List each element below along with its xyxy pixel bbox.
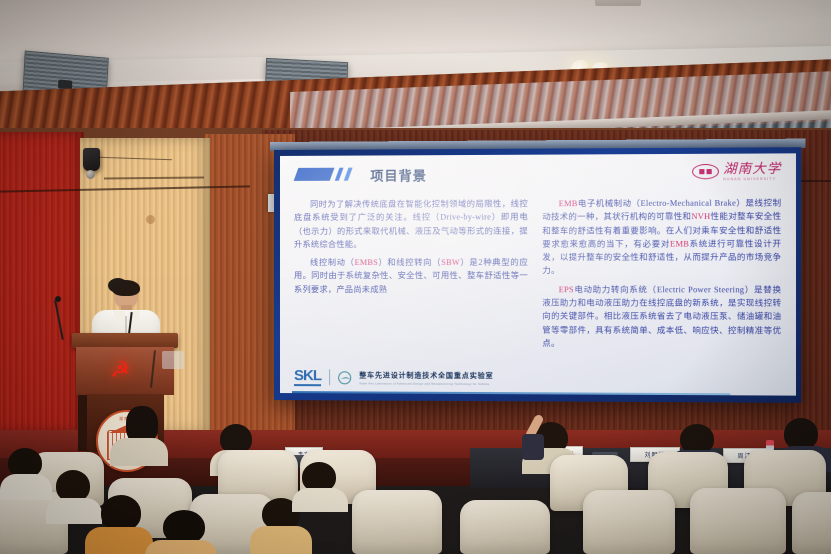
person-torso — [145, 540, 217, 554]
auditorium-chair[interactable] — [460, 500, 550, 554]
projection-screen-frame: 项目背景 湖南大学 HUNAN UNIVERSITY 同时为了解决传统底盘在智能… — [274, 147, 801, 403]
lab-name-block: 整车先进设计制造技术全国重点实验室 State Key Laboratory o… — [359, 370, 493, 386]
slide-footer: SKL 整车先进设计制造技术全国重点实验室 State Key Laborato… — [280, 365, 796, 392]
lab-name-cn: 整车先进设计制造技术全国重点实验室 — [359, 370, 493, 381]
university-logo: 湖南大学 HUNAN UNIVERSITY — [692, 162, 781, 182]
audience-member — [110, 406, 168, 464]
party-emblem-icon: ☭ — [102, 357, 138, 383]
wall-speaker-icon — [83, 148, 100, 171]
person-sleeve — [522, 434, 544, 460]
podium-screen — [162, 351, 184, 369]
audience-member — [145, 510, 217, 554]
university-name-en: HUNAN UNIVERSITY — [723, 177, 776, 181]
person-torso — [110, 438, 168, 466]
hunan-university-seal-icon — [692, 164, 719, 179]
person-torso — [85, 527, 153, 554]
title-bar-block-icon — [294, 168, 335, 181]
slide-paragraph: 线控制动（EMBS）和线控转向（SBW）是2种典型的应用。同时由于系统复杂性、安… — [294, 256, 528, 296]
university-name-cn: 湖南大学 — [723, 162, 781, 176]
person-head — [163, 510, 205, 544]
footer-divider — [329, 369, 330, 385]
podium-leg — [78, 395, 87, 451]
auditorium-chair[interactable] — [792, 492, 831, 554]
slide-paragraph: 同时为了解决传统底盘在智能化控制领域的局限性，线控底盘系统受到了广泛的关注。线控… — [294, 197, 528, 251]
skl-logo: SKL — [294, 368, 321, 386]
wall-mark — [146, 215, 155, 224]
slide-body: 同时为了解决传统底盘在智能化控制领域的局限性，线控底盘系统受到了广泛的关注。线控… — [280, 196, 796, 370]
lab-mark-icon — [338, 371, 351, 384]
audience-member — [0, 448, 52, 498]
title-accent-bars — [296, 168, 350, 181]
slide-left-column: 同时为了解决传统底盘在智能化控制领域的局限性，线控底盘系统受到了广泛的关注。线控… — [294, 197, 528, 369]
university-logo-text: 湖南大学 HUNAN UNIVERSITY — [723, 162, 781, 182]
person-torso — [292, 488, 348, 512]
audience-member — [85, 495, 153, 554]
title-slash-icon — [344, 168, 353, 181]
auditorium-chair[interactable] — [352, 490, 442, 554]
person-head — [101, 495, 141, 531]
audience-member — [292, 462, 348, 510]
auditorium-chair[interactable] — [583, 490, 675, 554]
person-torso — [0, 474, 52, 500]
lab-name-en: State Key Laboratory of Advanced Design … — [359, 381, 493, 386]
title-slash-icon — [335, 168, 344, 181]
presentation-slide[interactable]: 项目背景 湖南大学 HUNAN UNIVERSITY 同时为了解决传统底盘在智能… — [280, 153, 796, 395]
person-torso — [250, 526, 312, 554]
auditorium-chair[interactable] — [690, 488, 786, 554]
podium-top-surface — [72, 333, 178, 348]
footer-underline — [292, 391, 730, 395]
ceiling-fixture — [595, 0, 641, 6]
presenter-hair — [112, 280, 140, 296]
slide-paragraph: EPS电动助力转向系统（Electric Power Steering）是替换液… — [542, 283, 781, 351]
slide-paragraph: EMB电子机械制动（Electro-Mechanical Brake）是线控制动… — [542, 196, 781, 277]
conference-room-scene: 项目背景 湖南大学 HUNAN UNIVERSITY 同时为了解决传统底盘在智能… — [0, 0, 831, 554]
speaker-mount-icon — [86, 170, 95, 179]
slide-header: 项目背景 湖南大学 HUNAN UNIVERSITY — [280, 153, 796, 196]
slide-right-column: EMB电子机械制动（Electro-Mechanical Brake）是线控制动… — [542, 196, 781, 370]
slide-title: 项目背景 — [370, 165, 427, 184]
